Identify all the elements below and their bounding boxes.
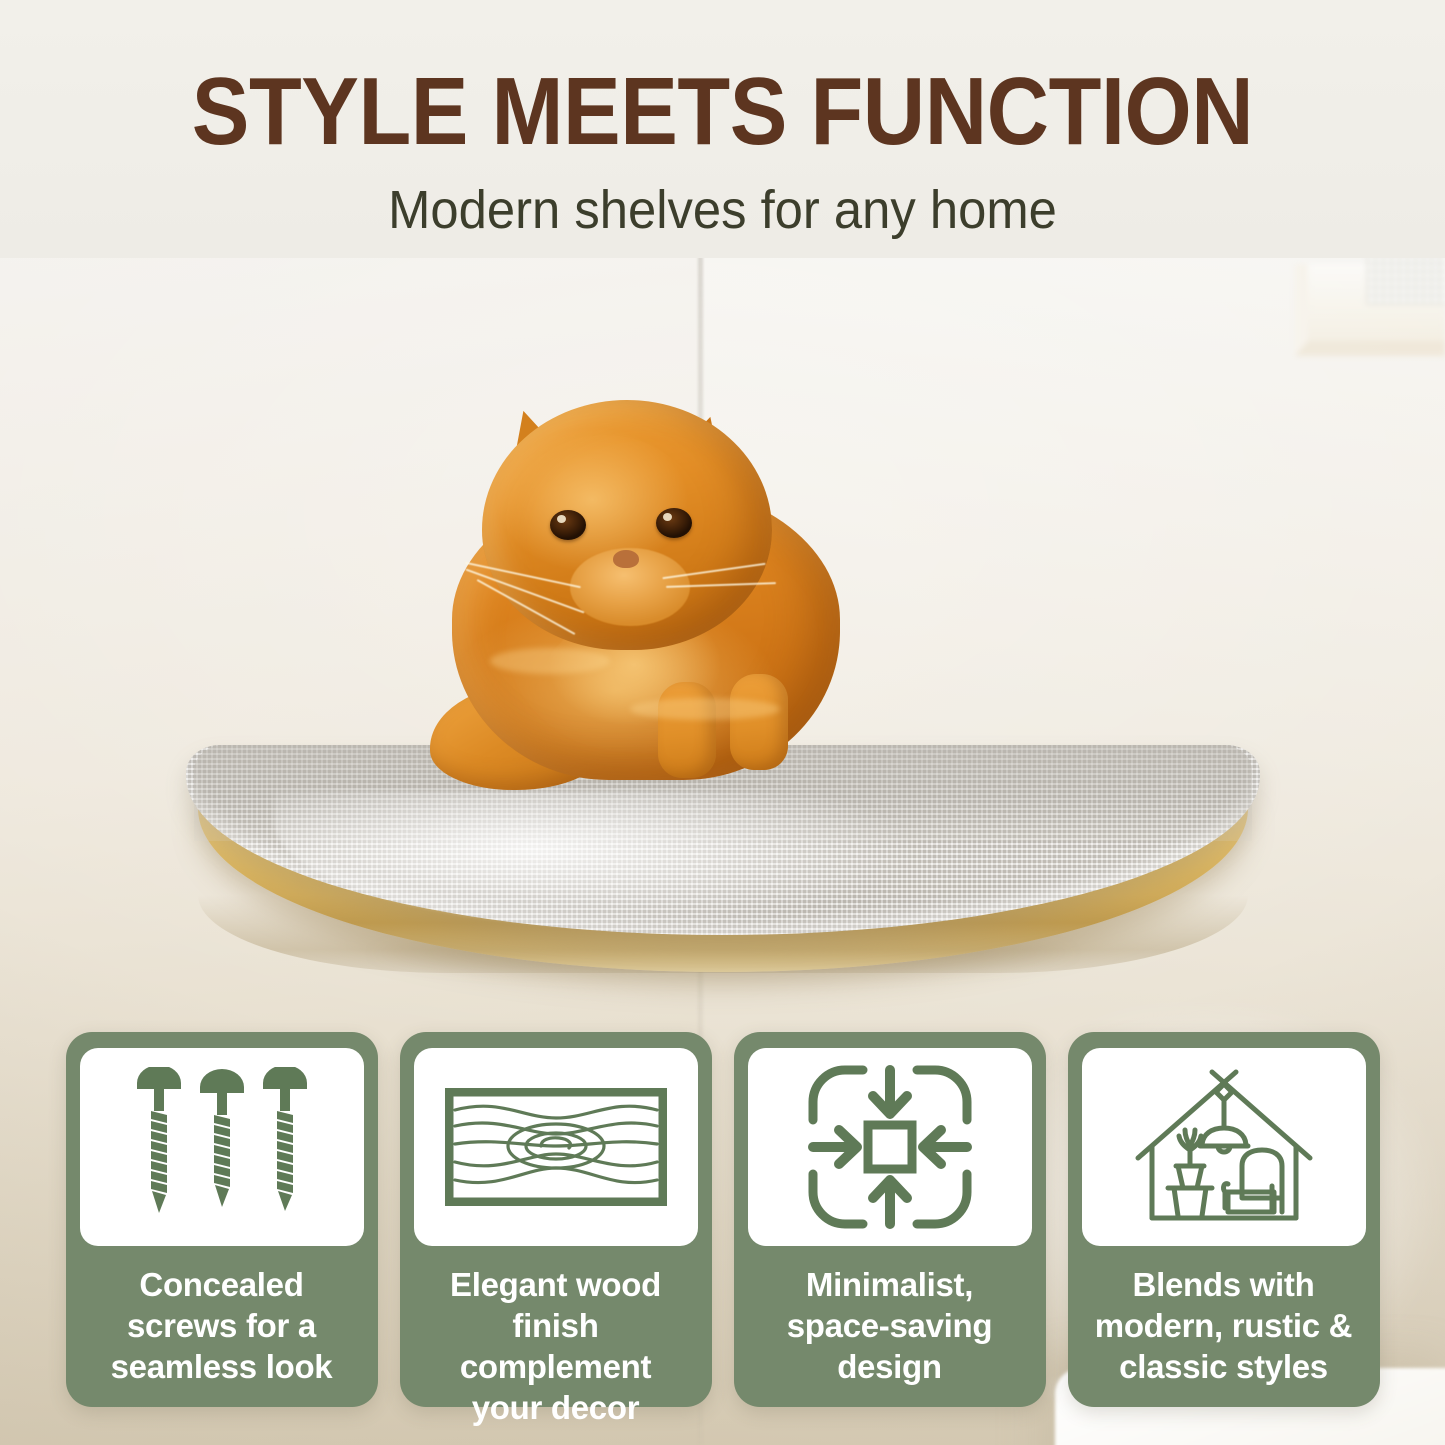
- cat-eye-left: [550, 510, 586, 540]
- icon-panel: [80, 1048, 364, 1246]
- cat-front-paw-right: [730, 674, 788, 770]
- home-interior-icon: [1124, 1066, 1324, 1228]
- feature-card-label: Elegant wood finish complement your deco…: [414, 1264, 698, 1428]
- feature-card-label: Minimalist, space-saving design: [787, 1264, 993, 1387]
- feature-card-row: Concealed screws for a seamless look: [0, 1032, 1445, 1407]
- cat-fur-highlight: [630, 698, 780, 720]
- cat-eye-highlight: [663, 513, 672, 521]
- header-banner: STYLE MEETS FUNCTION Modern shelves for …: [0, 0, 1445, 258]
- space-saving-icon: [805, 1062, 975, 1232]
- cat-nose: [613, 550, 639, 568]
- screws-icon: [127, 1067, 317, 1227]
- corner-shelf: [178, 745, 1268, 980]
- page-title: STYLE MEETS FUNCTION: [72, 62, 1373, 162]
- cat-photo-subject: [430, 398, 860, 768]
- feature-card-space-saving[interactable]: Minimalist, space-saving design: [734, 1032, 1046, 1407]
- cat-fur-highlight: [490, 648, 610, 674]
- product-infographic: STYLE MEETS FUNCTION Modern shelves for …: [0, 0, 1445, 1445]
- feature-card-label: Concealed screws for a seamless look: [111, 1264, 333, 1387]
- cat-eye-highlight: [557, 515, 566, 523]
- feature-card-concealed-screws[interactable]: Concealed screws for a seamless look: [66, 1032, 378, 1407]
- page-subtitle: Modern shelves for any home: [43, 180, 1401, 240]
- feature-card-style-blend[interactable]: Blends with modern, rustic & classic sty…: [1068, 1032, 1380, 1407]
- wood-grain-icon: [445, 1088, 667, 1206]
- feature-card-label: Blends with modern, rustic & classic sty…: [1095, 1264, 1352, 1387]
- cat-eye-right: [656, 508, 692, 538]
- feature-card-wood-finish[interactable]: Elegant wood finish complement your deco…: [400, 1032, 712, 1407]
- icon-panel: [1082, 1048, 1366, 1246]
- icon-panel: [748, 1048, 1032, 1246]
- cat-front-paw-left: [658, 682, 716, 778]
- icon-panel: [414, 1048, 698, 1246]
